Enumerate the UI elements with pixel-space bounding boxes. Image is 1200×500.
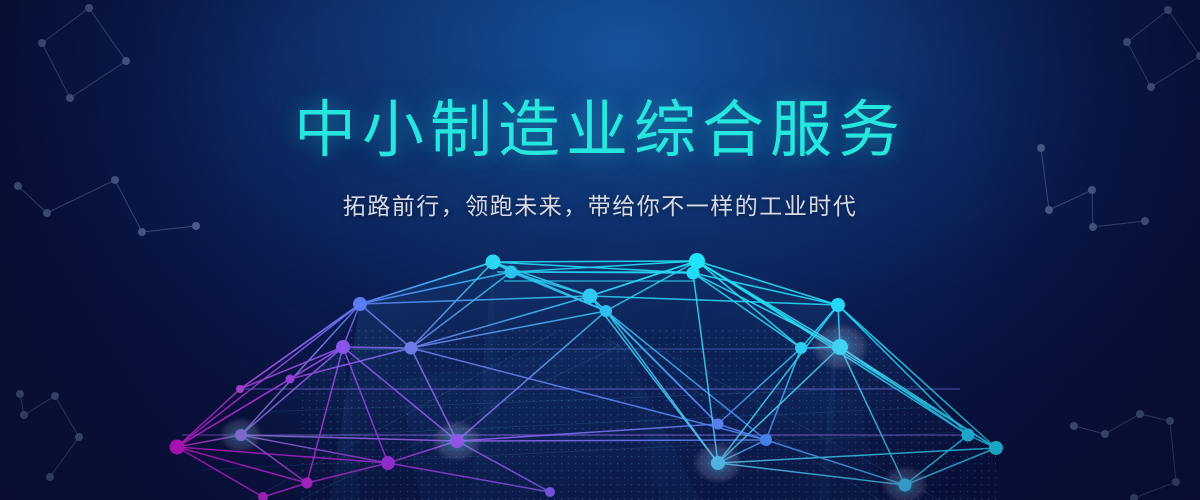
background-vignette xyxy=(0,0,1200,500)
hero-banner: 中小制造业综合服务 拓路前行，领跑未来，带给你不一样的工业时代 xyxy=(0,0,1200,500)
